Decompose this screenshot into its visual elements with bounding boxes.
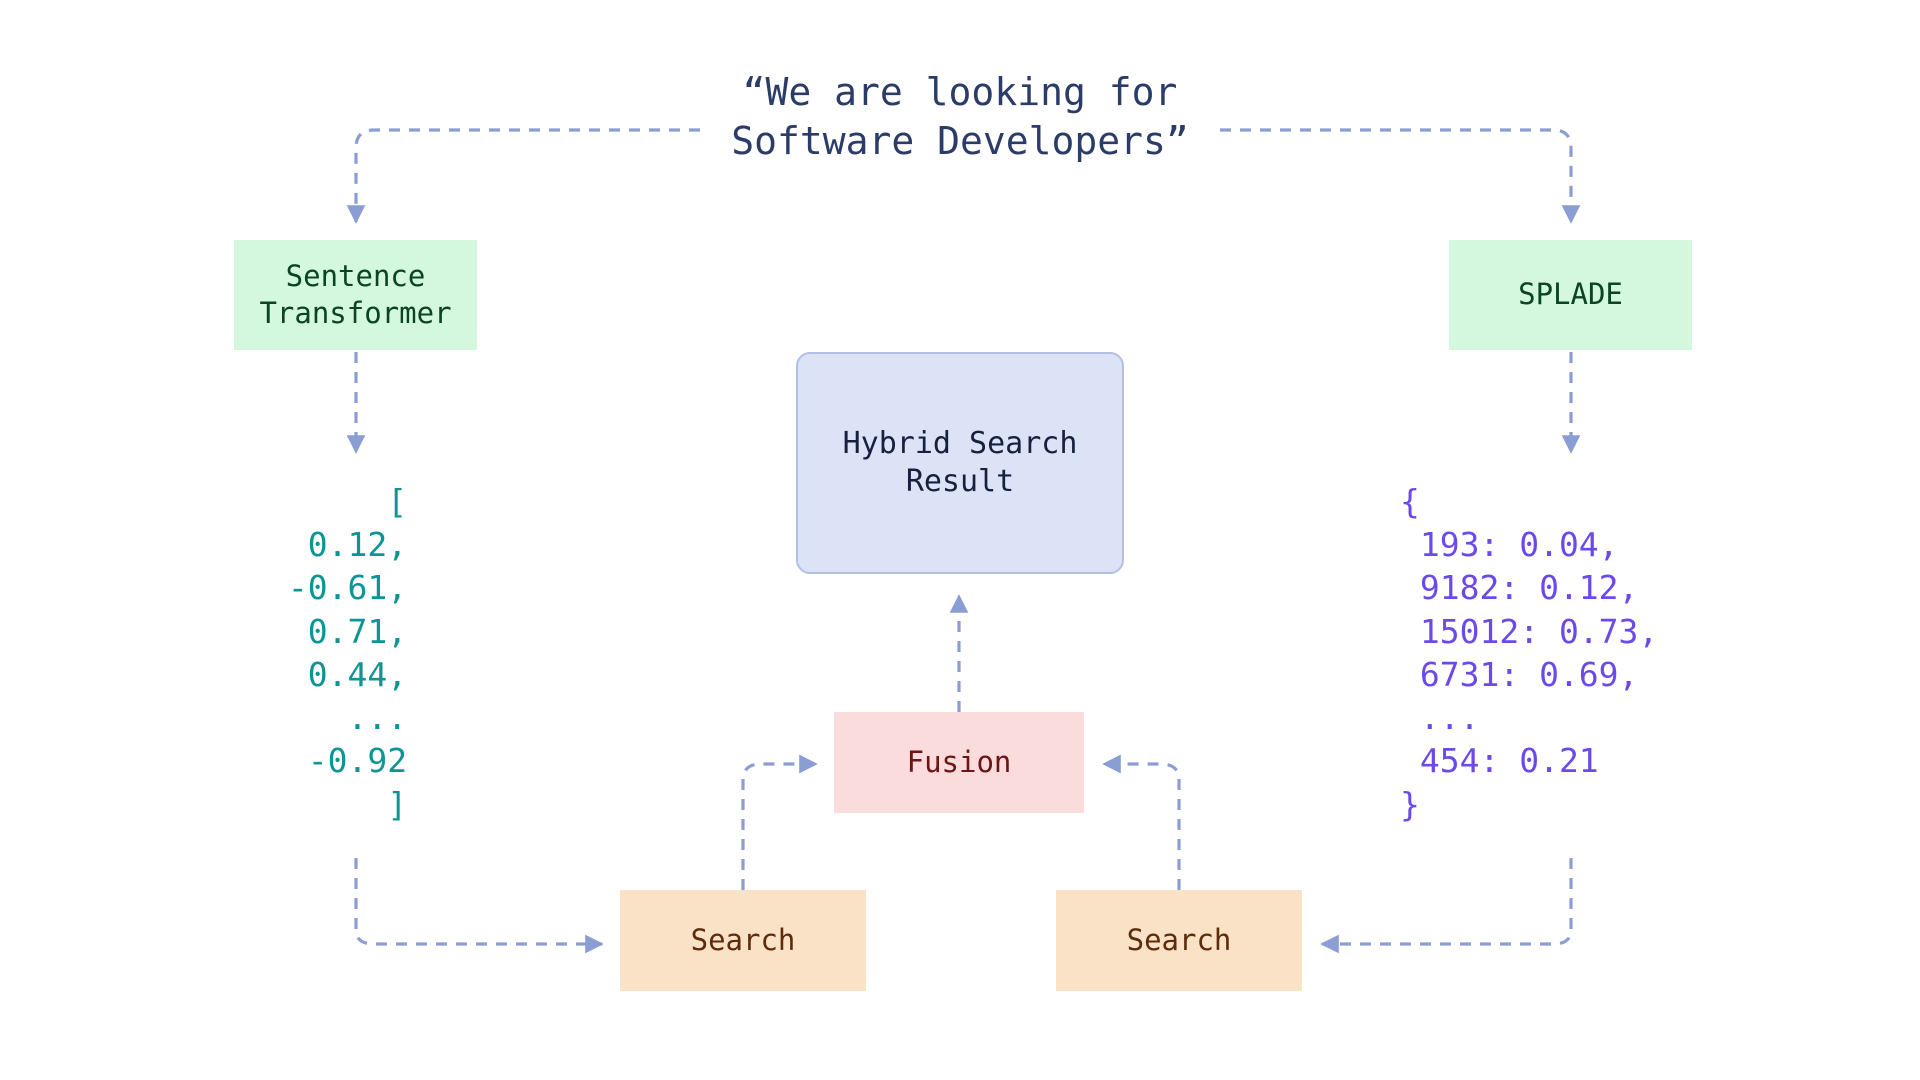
edge-search-sparse-to-fusion (1104, 764, 1179, 890)
edge-search-dense-to-fusion (743, 764, 816, 890)
query-text: “We are looking for Software Developers” (560, 68, 1360, 165)
node-hybrid-search-result[interactable]: Hybrid Search Result (796, 352, 1124, 574)
node-search-dense[interactable]: Search (620, 890, 866, 991)
dense-vector-output: [ 0.12, -0.61, 0.71, 0.44, ... -0.92 ] (268, 480, 407, 826)
node-splade[interactable]: SPLADE (1449, 240, 1692, 350)
hybrid-search-diagram: “We are looking for Software Developers”… (0, 0, 1920, 1080)
node-search-sparse[interactable]: Search (1056, 890, 1302, 991)
edge-sparse-to-search-sparse (1322, 858, 1571, 944)
node-fusion[interactable]: Fusion (834, 712, 1084, 813)
edge-vector-to-search-dense (356, 858, 602, 944)
node-sentence-transformer[interactable]: Sentence Transformer (234, 240, 477, 350)
sparse-vector-output: { 193: 0.04, 9182: 0.12, 15012: 0.73, 67… (1400, 480, 1658, 826)
